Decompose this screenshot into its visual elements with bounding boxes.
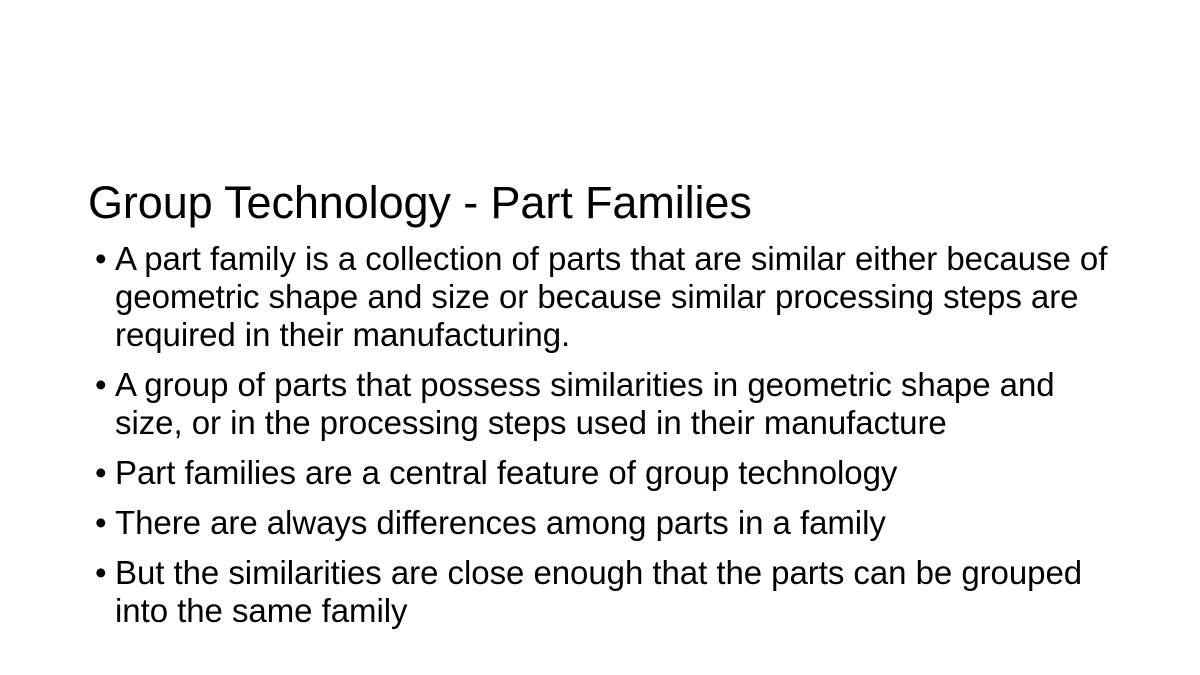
bullet-item-text: A group of parts that possess similariti… (115, 366, 1118, 442)
bullet-item-text: But the similarities are close enough th… (115, 554, 1118, 630)
bullet-item-5: • But the similarities are close enough … (88, 554, 1118, 630)
bullet-item-text: Part families are a central feature of g… (115, 454, 1118, 492)
bullet-point-icon: • (95, 504, 111, 542)
presentation-slide: Group Technology - Part Families • A par… (0, 0, 1200, 675)
bullet-item-1: • A part family is a collection of parts… (88, 240, 1118, 354)
bullet-point-icon: • (95, 454, 111, 492)
bullet-item-text: There are always differences among parts… (115, 504, 1118, 542)
bullet-point-icon: • (95, 366, 111, 404)
bullet-item-2: • A group of parts that possess similari… (88, 366, 1118, 442)
bullet-item-3: • Part families are a central feature of… (88, 454, 1118, 492)
slide-bullet-list: • A part family is a collection of parts… (88, 240, 1118, 630)
bullet-item-text: A part family is a collection of parts t… (115, 240, 1118, 354)
bullet-point-icon: • (95, 554, 111, 592)
bullet-item-4: • There are always differences among par… (88, 504, 1118, 542)
bullet-point-icon: • (95, 240, 111, 278)
slide-title: Group Technology - Part Families (88, 176, 1118, 230)
